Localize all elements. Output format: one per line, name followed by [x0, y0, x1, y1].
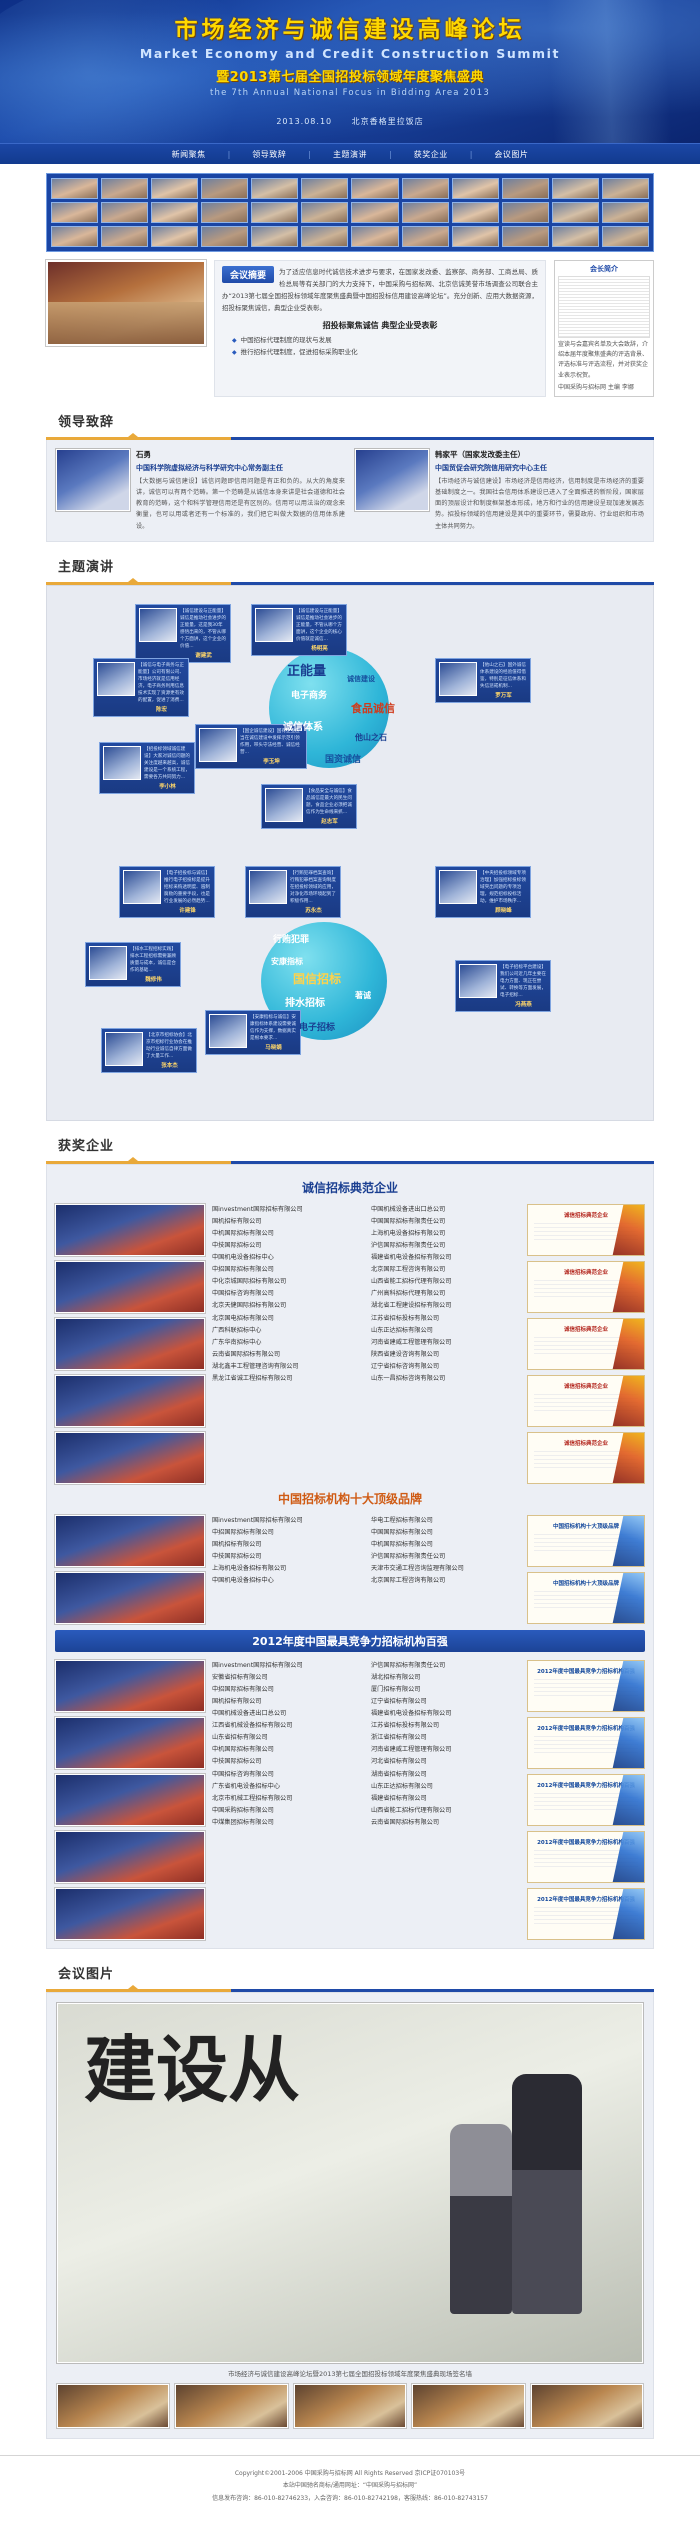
leader-card: 韩家平（国家发改委主任）中国贸促会研究院信用研究中心主任【市场经济与诚信建设】市… — [355, 449, 644, 532]
speaker-quote: 【诚信建设与正能量】诚信是推动社会进步的正能量，不管从哪个方面讲，这个企业的核心… — [296, 608, 343, 644]
award-company-item: 华电工程招标有限公司 — [371, 1515, 520, 1527]
award-ceremony-photo[interactable] — [55, 1717, 205, 1769]
leader-title: 中国贸促会研究院信用研究中心主任 — [435, 463, 644, 473]
award-company-item: 山西省能工招标代理有限公司 — [371, 1276, 520, 1288]
award-company-item: 江苏省招标投标有限公司 — [371, 1313, 520, 1325]
award-company-item: 中机国际招标有限公司 — [371, 1539, 520, 1551]
speaker-thumbnail[interactable] — [101, 226, 148, 247]
summary-bullet: 中国招标代理制度的现状与发展 — [232, 334, 538, 346]
speaker-card[interactable]: 【电子招标平台建设】我们公司近几年主要在电力方面、现正在尝试、转换等方面发展，电… — [455, 960, 551, 1013]
section-title-leaders: 领导致辞 — [58, 411, 654, 430]
award-company-item: 国机招标有限公司 — [212, 1216, 361, 1228]
speaker-name: 冯燕燕 — [500, 1000, 547, 1008]
award-company-item: 江苏省招标投标有限公司 — [371, 1720, 520, 1732]
mindmap-keyword: 正能量 — [287, 660, 326, 679]
speaker-card[interactable]: 【诚信与电子商务与正能量】公司有限公司、市场经济就是信用经济，电子商务利用信息技… — [93, 658, 189, 718]
section-keynote: 主题演讲 【诚信建设与正能量】诚信是推动社会进步的正能量，这是我30年感悟出来的… — [46, 556, 654, 1121]
speaker-photo — [249, 870, 287, 904]
award-ceremony-photo[interactable] — [55, 1660, 205, 1712]
award-company-item: 湖南省招标有限公司 — [371, 1769, 520, 1781]
mindmap-keyword: 电子招标 — [299, 1020, 335, 1033]
award-company-item: 安徽省招标有限公司 — [212, 1672, 361, 1684]
nav-item-keynote[interactable]: 主题演讲 — [311, 149, 389, 160]
mindmap-keyword: 国信招标 — [293, 970, 341, 987]
speaker-thumbnail[interactable] — [502, 202, 549, 223]
speaker-quote: 【行贿犯罪档案查询】行贿犯罪档案查询制度在招投标领域的应用，对净化市场环境起到了… — [290, 870, 337, 906]
gallery-thumbnails[interactable] — [57, 2384, 643, 2428]
award-certificate[interactable]: 2012年度中国最具竞争力招标机构百强 — [527, 1717, 645, 1769]
awards-container: 诚信招标典范企业国investment国际招标有限公司中国机械设备进出口总公司国… — [46, 1164, 654, 1949]
award-company-item: 中国机械设备进出口总公司 — [212, 1708, 361, 1720]
speaker-name: 李小林 — [144, 782, 191, 790]
section-title-keynote: 主题演讲 — [58, 556, 654, 575]
award-company-item: 广东省机电设备招标中心 — [212, 1781, 361, 1793]
award-company-item: 北京市机械工程招标有限公司 — [212, 1793, 361, 1805]
award-photo-column — [55, 1204, 205, 1484]
award-company-item: 河南省建威工程管理有限公司 — [371, 1744, 520, 1756]
award-ceremony-photo[interactable] — [55, 1432, 205, 1484]
section-title-gallery: 会议图片 — [58, 1963, 654, 1982]
award-certificate[interactable]: 中国招标机构十大顶级品牌 — [527, 1515, 645, 1567]
speaker-thumbnail[interactable] — [402, 202, 449, 223]
award-company-item: 浙江省招标有限公司 — [371, 1732, 520, 1744]
award-company-item: 上海机电设备招标有限公司 — [371, 1228, 520, 1240]
award-company-item: 沪信国际招标有限责任公司 — [371, 1240, 520, 1252]
leader-card: 石勇中国科学院虚拟经济与科学研究中心常务副主任【大数据与诚信建设】诚信问题即信用… — [56, 449, 345, 532]
speaker-photo — [89, 946, 127, 980]
award-ceremony-photo[interactable] — [55, 1831, 205, 1883]
speaker-thumbnail[interactable] — [602, 178, 649, 199]
speaker-thumbnail[interactable] — [502, 226, 549, 247]
award-ceremony-photo[interactable] — [55, 1318, 205, 1370]
calligraphy-text: 建设从 — [84, 2032, 300, 2108]
section-rule — [46, 1989, 654, 1992]
banner-date: 2013.08.10 — [276, 117, 332, 126]
section-gallery: 会议图片 建设从 市场经济与诚信建设高峰论坛暨2013第七届全国招投标领域年度聚… — [46, 1963, 654, 2439]
speaker-thumbnail[interactable] — [151, 202, 198, 223]
award-company-item: 中国国际招标有限责任公司 — [371, 1216, 520, 1228]
award-company-item: 中国招标咨询有限公司 — [212, 1769, 361, 1781]
mindmap-group-1: 【诚信建设与正能量】诚信是推动社会进步的正能量，这是我30年感悟出来的，不管从哪… — [55, 596, 645, 846]
speaker-quote: 【诚信与电子商务与正能量】公司有限公司、市场经济就是信用经济，电子商务利用信息技… — [138, 662, 185, 705]
summary-tag: 会议摘要 — [222, 266, 274, 283]
speaker-quote: 【诚信建设与正能量】诚信是推动社会进步的正能量，这是我30年感悟出来的，不管从哪… — [180, 608, 227, 651]
speaker-thumbnail[interactable] — [301, 226, 348, 247]
award-ceremony-photo[interactable] — [55, 1515, 205, 1567]
speaker-thumbnail[interactable] — [552, 178, 599, 199]
award-certificate[interactable]: 诚信招标典范企业 — [527, 1204, 645, 1256]
award-company-list: 国investment国际招标有限公司中国机械设备进出口总公司国机招标有限公司中… — [212, 1204, 520, 1385]
speaker-thumbnail[interactable] — [502, 178, 549, 199]
award-certificate-column: 2012年度中国最具竞争力招标机构百强2012年度中国最具竞争力招标机构百强20… — [527, 1660, 645, 1940]
gallery-thumbnail[interactable] — [175, 2384, 287, 2428]
award-company-item: 福建省机电设备招标有限公司 — [371, 1252, 520, 1264]
speaker-thumbnail[interactable] — [251, 178, 298, 199]
gallery-caption: 市场经济与诚信建设高峰论坛暨2013第七届全国招投标领域年度聚焦盛典现场签名墙 — [57, 2368, 643, 2378]
award-photo-column — [55, 1515, 205, 1624]
speaker-thumbnail[interactable] — [351, 226, 398, 247]
speaker-card[interactable]: 【电子招投标与诚信】推行电子招投标是提升招标采购透明度、遏制腐败的重要手段，也是… — [119, 866, 215, 919]
award-certificate-column: 诚信招标典范企业诚信招标典范企业诚信招标典范企业诚信招标典范企业诚信招标典范企业 — [527, 1204, 645, 1484]
speaker-thumbnail[interactable] — [602, 202, 649, 223]
award-company-item: 山西省能工招标代理有限公司 — [371, 1805, 520, 1817]
president-profile-card: 会长简介 宣读与会嘉宾名单及大会致辞，介绍本届年度聚焦盛典的评选背景、评选标准与… — [554, 260, 654, 397]
award-company-item: 湖北鑫丰工程管理咨询有限公司 — [212, 1361, 361, 1373]
banner-subtitle-cn: 暨2013第七届全国招投标领域年度聚焦盛典 — [0, 66, 700, 85]
summary-panel: 会议摘要 为了适应信息时代诚信技术进步与要求，在国家发改委、监察部、商务部、工商… — [214, 260, 546, 397]
award-company-item: 国investment国际招标有限公司 — [212, 1515, 361, 1527]
leader-title: 中国科学院虚拟经济与科学研究中心常务副主任 — [136, 463, 345, 473]
award-company-item: 中技国际招标公司 — [212, 1756, 361, 1768]
award-company-item: 中国机电设备招标中心 — [212, 1575, 361, 1587]
speaker-name: 马晓娟 — [250, 1043, 297, 1051]
speaker-name: 张本杰 — [146, 1061, 193, 1069]
gallery-main-photo[interactable]: 建设从 — [57, 2003, 643, 2363]
award-company-list: 国investment国际招标有限公司华电工程招标有限公司中招国际招标有限公司中… — [212, 1515, 520, 1588]
mindmap-keyword: 排水招标 — [285, 994, 325, 1009]
mindmap-keyword: 电子商务 — [291, 688, 327, 701]
speaker-name: 苏永杰 — [290, 906, 337, 914]
award-company-item: 广西科联招标中心 — [212, 1325, 361, 1337]
award-certificate[interactable]: 诚信招标典范企业 — [527, 1375, 645, 1427]
award-company-item: 上海机电设备招标有限公司 — [212, 1563, 361, 1575]
mindmap-keyword: 国资诚信 — [325, 752, 361, 765]
award-company-item: 沪信国际招标有限责任公司 — [371, 1660, 520, 1672]
speaker-quote: 【食品安全与诚信】食品诚信是最大的民生问题，食品企业必须把诚信作为生命线来抓..… — [306, 788, 353, 816]
speaker-name: 杨明亮 — [296, 644, 343, 652]
leader-text: 【市场经济与诚信建设】市场经济是信用经济，信用制度是市场经济的重要基础制度之一。… — [435, 476, 644, 532]
speaker-card[interactable]: 【安康指标与诚信】安康指标体系建设需要诚信作为支撑，数据真实是根本要求...马晓… — [205, 1010, 301, 1055]
banner-venue: 北京香格里拉饭店 — [352, 117, 424, 126]
president-profile-sign: 中国采购与招标网 主编 李娜 — [558, 383, 650, 393]
award-company-item: 天津市交通工程咨询监理有限公司 — [371, 1563, 520, 1575]
award-company-item: 中国机械设备进出口总公司 — [371, 1204, 520, 1216]
speaker-quote: 【电子招投标与诚信】推行电子招投标是提升招标采购透明度、遏制腐败的重要手段，也是… — [164, 870, 211, 906]
award-company-item: 中技国际招标公司 — [212, 1551, 361, 1563]
award-photo-column — [55, 1660, 205, 1940]
award-company-item: 沪信国际招标有限责任公司 — [371, 1551, 520, 1563]
award-company-item: 福建省机电设备招标有限公司 — [371, 1708, 520, 1720]
award-company-item: 广州高科招标代理有限公司 — [371, 1288, 520, 1300]
award-ceremony-photo[interactable] — [55, 1204, 205, 1256]
award-company-item: 广东华南招标中心 — [212, 1337, 361, 1349]
leaders-list: 石勇中国科学院虚拟经济与科学研究中心常务副主任【大数据与诚信建设】诚信问题即信用… — [56, 449, 644, 532]
award-company-item: 中国机电设备招标中心 — [212, 1252, 361, 1264]
award-ceremony-photo[interactable] — [55, 1572, 205, 1624]
section-rule — [46, 437, 654, 440]
award-company-item: 中国采购招标有限公司 — [212, 1805, 361, 1817]
award-company-item: 中招国际招标有限公司 — [212, 1684, 361, 1696]
award-company-item: 厦门招标有限公司 — [371, 1684, 520, 1696]
nav-item-speech[interactable]: 领导致辞 — [230, 149, 308, 160]
speaker-photo-strip — [46, 173, 654, 252]
award-company-item: 黑龙江省诚工程招标有限公司 — [212, 1373, 361, 1385]
speaker-thumbnail[interactable] — [51, 226, 98, 247]
speaker-thumbnail[interactable] — [101, 178, 148, 199]
gallery-thumbnail[interactable] — [57, 2384, 169, 2428]
speaker-card[interactable]: 【招投标领域诚信建设】大家对诚信问题的关注度越来越高，诚信建设是一个系统工程，需… — [99, 742, 195, 795]
conference-hall-photo — [46, 260, 206, 346]
speaker-quote: 【安康指标与诚信】安康指标体系建设需要诚信作为支撑，数据真实是根本要求... — [250, 1014, 297, 1042]
speaker-thumbnail[interactable] — [51, 202, 98, 223]
person-figure-1 — [512, 2074, 582, 2314]
award-group-title: 2012年度中国最具竞争力招标机构百强 — [55, 1630, 645, 1652]
award-company-item: 中机国际招标有限公司 — [212, 1228, 361, 1240]
speaker-photo — [209, 1014, 247, 1048]
mindmap-keyword: 著诚 — [355, 990, 371, 1001]
award-ceremony-photo[interactable] — [55, 1888, 205, 1940]
speaker-thumbnail[interactable] — [251, 226, 298, 247]
award-group-row: 国investment国际招标有限公司沪信国际招标有限责任公司安徽省招标有限公司… — [55, 1660, 645, 1940]
summary-bullets: 中国招标代理制度的现状与发展推行招标代理制度，促进招标采购职业化 — [222, 334, 538, 359]
award-company-item: 湖北招标有限公司 — [371, 1672, 520, 1684]
award-company-item: 云南省国际招标有限公司 — [212, 1349, 361, 1361]
speaker-quote: 【招投标领域诚信建设】大家对诚信问题的关注度越来越高，诚信建设是一个系统工程，需… — [144, 746, 191, 782]
award-company-item: 中国国际招标有限公司 — [371, 1527, 520, 1539]
award-group-row: 国investment国际招标有限公司华电工程招标有限公司中招国际招标有限公司中… — [55, 1515, 645, 1624]
document-thumbnail — [558, 276, 650, 338]
leader-photo — [56, 449, 130, 511]
speaker-thumbnail[interactable] — [351, 178, 398, 199]
president-profile-note: 宣读与会嘉宾名单及大会致辞，介绍本届年度聚焦盛典的评选背景、评选标准与评选流程，… — [558, 340, 650, 381]
section-rule — [46, 1161, 654, 1164]
award-company-item: 北京国际工程咨询有限公司 — [371, 1264, 520, 1276]
award-certificate[interactable]: 诚信招标典范企业 — [527, 1432, 645, 1484]
award-company-item: 北京国际工程咨询有限公司 — [371, 1575, 520, 1587]
speaker-thumbnail[interactable] — [452, 202, 499, 223]
award-company-item: 国机招标有限公司 — [212, 1696, 361, 1708]
summary-subtitle: 招投标聚焦诚信 典型企业受表彰 — [222, 320, 538, 331]
award-company-item: 中化京城国际招标有限公司 — [212, 1276, 361, 1288]
speaker-thumbnail[interactable] — [452, 178, 499, 199]
award-company-item: 北京国电招标有限公司 — [212, 1313, 361, 1325]
award-company-item: 辽宁省招标有限公司 — [371, 1696, 520, 1708]
award-certificate[interactable]: 中国招标机构十大顶级品牌 — [527, 1572, 645, 1624]
award-company-item: 陕西省建设咨询有限公司 — [371, 1349, 520, 1361]
award-company-item: 中国招标咨询有限公司 — [212, 1288, 361, 1300]
award-certificate[interactable]: 2012年度中国最具竞争力招标机构百强 — [527, 1888, 645, 1940]
speaker-name: 罗万军 — [480, 691, 527, 699]
award-company-item: 山东正达招标有限公司 — [371, 1325, 520, 1337]
speaker-card[interactable]: 【诚信建设与正能量】诚信是推动社会进步的正能量，这是我30年感悟出来的，不管从哪… — [135, 604, 231, 664]
speaker-photo — [103, 746, 141, 780]
award-company-item: 中招国际招标有限公司 — [212, 1527, 361, 1539]
nav-item-gallery[interactable]: 会议图片 — [472, 149, 550, 160]
mindmap-keyword: 他山之石 — [355, 732, 387, 743]
footer-brand: 本站中国驰名商标/通用网址：“中国采购与招标网” — [0, 2480, 700, 2493]
award-certificate[interactable]: 2012年度中国最具竞争力招标机构百强 — [527, 1831, 645, 1883]
award-certificate-column: 中国招标机构十大顶级品牌中国招标机构十大顶级品牌 — [527, 1515, 645, 1624]
gallery-thumbnail[interactable] — [412, 2384, 524, 2428]
award-ceremony-photo[interactable] — [55, 1261, 205, 1313]
award-company-list: 国investment国际招标有限公司沪信国际招标有限责任公司安徽省招标有限公司… — [212, 1660, 520, 1829]
award-company-item: 中机国际招标有限公司 — [212, 1744, 361, 1756]
page-footer: Copyright©2001-2006 中国采购与招标网 All Rights … — [0, 2455, 700, 2522]
mindmap-keyword: 诚信体系 — [283, 718, 323, 733]
speaker-photo — [265, 788, 303, 822]
banner-meta: 2013.08.10 北京香格里拉饭店 — [0, 116, 700, 127]
leader-name: 石勇 — [136, 449, 345, 460]
mindmap-keyword: 行贿犯罪 — [273, 932, 309, 945]
speaker-thumbnail[interactable] — [552, 226, 599, 247]
section-leaders: 领导致辞 石勇中国科学院虚拟经济与科学研究中心常务副主任【大数据与诚信建设】诚信… — [46, 411, 654, 542]
speaker-card[interactable]: 【他山之石】国外诚信体系建设的经验值得借鉴，特别是征信体系和失信惩戒机制...罗… — [435, 658, 531, 703]
speaker-thumbnail[interactable] — [151, 226, 198, 247]
award-company-item: 河北省招标有限公司 — [371, 1756, 520, 1768]
award-company-item: 中煤集团招标有限公司 — [212, 1817, 361, 1829]
nav-item-awards[interactable]: 获奖企业 — [392, 149, 470, 160]
speaker-thumbnail[interactable] — [51, 178, 98, 199]
speaker-photo — [123, 870, 161, 904]
speaker-card[interactable]: 【北京市招标协会】北京市招标行业协会在推动行业诚信自律方面做了大量工作...张本… — [101, 1028, 197, 1073]
speaker-name: 陈宏 — [138, 705, 185, 713]
section-title-awards: 获奖企业 — [58, 1135, 654, 1154]
award-company-item: 国investment国际招标有限公司 — [212, 1660, 361, 1672]
main-nav[interactable]: 新闻聚焦 | 领导致辞 | 主题演讲 | 获奖企业 | 会议图片 — [0, 143, 700, 164]
speaker-thumbnail[interactable] — [151, 178, 198, 199]
banner-title-en: Market Economy and Credit Construction S… — [0, 46, 700, 61]
award-certificate[interactable]: 2012年度中国最具竞争力招标机构百强 — [527, 1660, 645, 1712]
speaker-photo — [105, 1032, 143, 1066]
speaker-photo — [97, 662, 135, 696]
summary-bullet: 推行招标代理制度，促进招标采购职业化 — [232, 346, 538, 358]
award-ceremony-photo[interactable] — [55, 1375, 205, 1427]
speaker-photo — [139, 608, 177, 642]
speaker-quote: 【北京市招标协会】北京市招标行业协会在推动行业诚信自律方面做了大量工作... — [146, 1032, 193, 1060]
award-company-item: 辽宁省招标咨询有限公司 — [371, 1361, 520, 1373]
page-root: 市场经济与诚信建设高峰论坛 Market Economy and Credit … — [0, 0, 700, 2522]
speaker-card[interactable]: 【行贿犯罪档案查询】行贿犯罪档案查询制度在招投标领域的应用，对净化市场环境起到了… — [245, 866, 341, 919]
speaker-thumbnail[interactable] — [452, 226, 499, 247]
speaker-thumbnail[interactable] — [301, 202, 348, 223]
speaker-card[interactable]: 【排水工程招标实践】排水工程招标需要兼顾质量与成本，诚信是合作的基础...魏修伟 — [85, 942, 181, 987]
section-awards: 获奖企业 诚信招标典范企业国investment国际招标有限公司中国机械设备进出… — [46, 1135, 654, 1949]
speaker-name: 许建锋 — [164, 906, 211, 914]
speaker-quote: 【排水工程招标实践】排水工程招标需要兼顾质量与成本，诚信是合作的基础... — [130, 946, 177, 974]
speaker-thumbnail[interactable] — [251, 202, 298, 223]
speaker-thumbnail[interactable] — [402, 178, 449, 199]
award-company-item: 北京天健国际招标有限公司 — [212, 1300, 361, 1312]
award-company-item: 中技国际招标公司 — [212, 1240, 361, 1252]
mindmap-keyword: 食品诚信 — [351, 700, 395, 716]
speaker-thumbnail[interactable] — [402, 226, 449, 247]
banner-title-cn: 市场经济与诚信建设高峰论坛 — [0, 10, 700, 44]
speaker-photo — [459, 964, 497, 998]
nav-item-news[interactable]: 新闻聚焦 — [150, 149, 228, 160]
mindmap-keyword: 诚信建设 — [347, 674, 375, 684]
summary-row: 会议摘要 为了适应信息时代诚信技术进步与要求，在国家发改委、监察部、商务部、工商… — [46, 260, 654, 397]
speaker-thumbnail[interactable] — [552, 202, 599, 223]
speaker-card[interactable]: 【中央招投标领域专项治理】加强招标投标领域突出问题的专项治理，规范招标投标活动，… — [435, 866, 531, 919]
award-certificate[interactable]: 诚信招标典范企业 — [527, 1318, 645, 1370]
mindmap-keyword: 安康指标 — [271, 956, 303, 967]
speaker-name: 顾晓峰 — [480, 906, 527, 914]
person-figure-2 — [450, 2124, 512, 2314]
speaker-card[interactable]: 【食品安全与诚信】食品诚信是最大的民生问题，食品企业必须把诚信作为生命线来抓..… — [261, 784, 357, 829]
award-company-item: 山东正达招标有限公司 — [371, 1781, 520, 1793]
speaker-name: 赵志军 — [306, 817, 353, 825]
speaker-thumbnail[interactable] — [351, 202, 398, 223]
award-company-item: 国机招标有限公司 — [212, 1539, 361, 1551]
speaker-name: 李玉坤 — [240, 757, 303, 765]
speaker-quote: 【中央招投标领域专项治理】加强招标投标领域突出问题的专项治理，规范招标投标活动，… — [480, 870, 527, 906]
speaker-quote: 【电子招标平台建设】我们公司近几年主要在电力方面、现正在尝试、转换等方面发展，电… — [500, 964, 547, 1000]
banner-subtitle-en: the 7th Annual National Focus in Bidding… — [0, 88, 700, 98]
leader-photo — [355, 449, 429, 511]
award-certificate[interactable]: 诚信招标典范企业 — [527, 1261, 645, 1313]
speaker-photo — [199, 728, 237, 762]
award-company-item: 中招国际招标有限公司 — [212, 1264, 361, 1276]
footer-copyright: Copyright©2001-2006 中国采购与招标网 All Rights … — [0, 2468, 700, 2481]
award-company-item: 山东一昌招标咨询有限公司 — [371, 1373, 520, 1385]
speaker-thumbnail[interactable] — [301, 178, 348, 199]
speaker-name: 魏修伟 — [130, 975, 177, 983]
speaker-card[interactable]: 【诚信建设与正能量】诚信是推动社会进步的正能量，不管从哪个方面讲，这个企业的核心… — [251, 604, 347, 657]
speaker-photo — [439, 870, 477, 904]
award-company-item: 江西省机械设备招标有限公司 — [212, 1720, 361, 1732]
mindmap-group-2: 【电子招投标与诚信】推行电子招投标是提升招标采购透明度、遏制腐败的重要手段，也是… — [55, 860, 645, 1110]
speaker-thumbnail[interactable] — [101, 202, 148, 223]
award-company-item: 湖北省工程建设招标有限公司 — [371, 1300, 520, 1312]
gallery-thumbnail[interactable] — [294, 2384, 406, 2428]
speaker-thumbnail[interactable] — [201, 226, 248, 247]
leader-name: 韩家平（国家发改委主任） — [435, 449, 644, 460]
page-banner: 市场经济与诚信建设高峰论坛 Market Economy and Credit … — [0, 0, 700, 143]
award-company-item: 山东省招标有限公司 — [212, 1732, 361, 1744]
president-profile-tag: 会长简介 — [558, 264, 650, 274]
gallery-thumbnail[interactable] — [531, 2384, 643, 2428]
speaker-photo — [255, 608, 293, 642]
award-group-title: 中国招标机构十大顶级品牌 — [55, 1490, 645, 1507]
award-company-item: 河南省建威工程管理有限公司 — [371, 1337, 520, 1349]
speaker-quote: 【他山之石】国外诚信体系建设的经验值得借鉴，特别是征信体系和失信惩戒机制... — [480, 662, 527, 690]
award-group-title: 诚信招标典范企业 — [55, 1179, 645, 1196]
speaker-thumbnail[interactable] — [201, 202, 248, 223]
award-certificate[interactable]: 2012年度中国最具竞争力招标机构百强 — [527, 1774, 645, 1826]
award-company-item: 福建省招标有限公司 — [371, 1793, 520, 1805]
award-company-item: 国investment国际招标有限公司 — [212, 1204, 361, 1216]
speaker-photo — [439, 662, 477, 696]
award-company-item: 云南省国际招标有限公司 — [371, 1817, 520, 1829]
award-ceremony-photo[interactable] — [55, 1774, 205, 1826]
footer-contact: 信息发布咨询：86-010-82746233，入会咨询：86-010-82742… — [0, 2493, 700, 2506]
leader-text: 【大数据与诚信建设】诚信问题即信用问题是有正和负的。从大的角度来讲，诚信可以有两… — [136, 476, 345, 532]
speaker-thumbnail[interactable] — [201, 178, 248, 199]
award-group-row: 国investment国际招标有限公司中国机械设备进出口总公司国机招标有限公司中… — [55, 1204, 645, 1484]
speaker-thumbnail[interactable] — [602, 226, 649, 247]
